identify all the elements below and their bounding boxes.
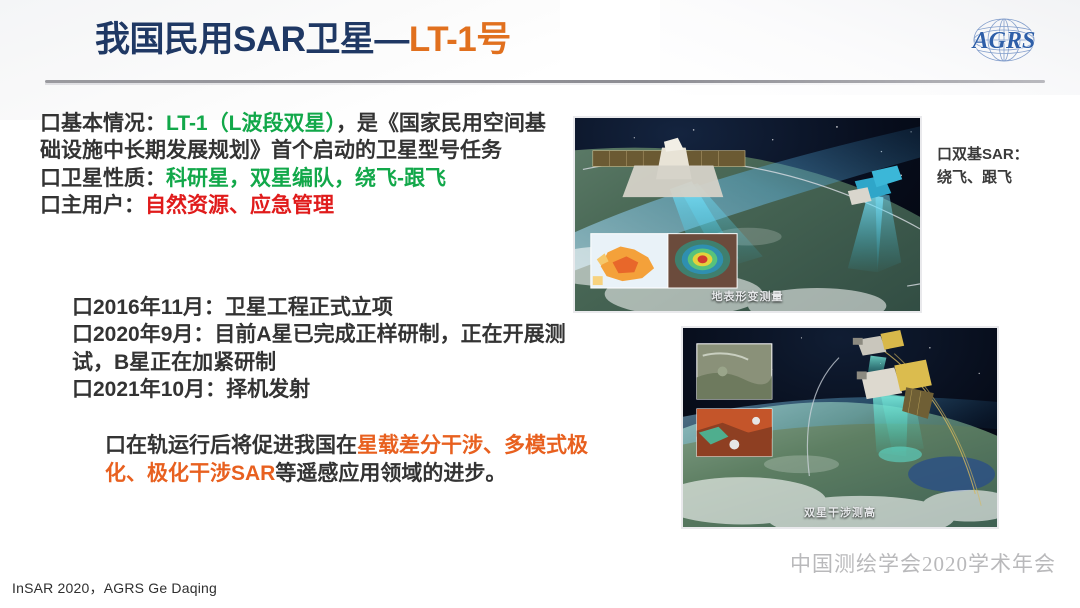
globe-logo-icon: AGRS <box>950 14 1058 66</box>
figure-interferometry: 双星干涉测高 <box>681 326 999 529</box>
bullet-satellite-nature: 口卫星性质：科研星，双星编队，绕飞-跟飞 <box>40 165 550 192</box>
footer-right-text: 中国测绘学会2020学术年会 <box>790 548 1056 578</box>
user-highlight: 自然资源、应急管理 <box>145 194 334 217</box>
bullet-marker: 口 <box>72 378 93 401</box>
annotation-bistatic-sar: 口双基SAR： 绕飞、跟飞 <box>937 144 1077 189</box>
page-title: 我国民用SAR卫星—LT-1号 <box>95 20 511 60</box>
text-block-timeline: 口2016年11月：卫星工程正式立项 口2020年9月：目前A星已完成正样研制，… <box>72 294 572 403</box>
title-divider <box>45 80 1045 83</box>
bullet-marker: 口 <box>72 323 93 346</box>
timeline-text: 卫星工程正式立项 <box>225 296 393 319</box>
agrs-logo: AGRS <box>950 14 1058 66</box>
bullet-main-user: 口主用户：自然资源、应急管理 <box>40 192 550 219</box>
annotation-bistatic-line2: 绕飞、跟飞 <box>937 167 1077 190</box>
nature-label: 卫星性质： <box>61 167 166 190</box>
future-tail: 等遥感应用领域的进步。 <box>275 462 506 485</box>
bullet-marker: 口 <box>105 434 126 457</box>
text-block-basic-info: 口基本情况：LT-1（L波段双星），是《国家民用空间基础设施中长期发展规划》首个… <box>40 110 550 219</box>
user-label: 主用户： <box>61 194 145 217</box>
text-block-future-outlook: 口在轨运行后将促进我国在星载差分干涉、多模式极化、极化干涉SAR等遥感应用领域的… <box>105 432 610 487</box>
basic-info-label: 基本情况： <box>61 112 166 135</box>
basic-info-highlight: LT-1（L波段双星） <box>166 112 336 135</box>
figure-interferometry-artwork <box>683 328 997 528</box>
bullet-basic-info: 口基本情况：LT-1（L波段双星），是《国家民用空间基础设施中长期发展规划》首个… <box>40 110 550 165</box>
timeline-text: 择机发射 <box>226 378 310 401</box>
figure-deformation: 地表形变测量 <box>573 116 922 313</box>
nature-highlight: 科研星，双星编队，绕飞-跟飞 <box>166 167 446 190</box>
timeline-item: 口2016年11月：卫星工程正式立项 <box>72 294 572 321</box>
figure-deformation-caption: 地表形变测量 <box>575 288 920 304</box>
timeline-date: 2016年11月： <box>93 296 225 319</box>
figure-deformation-artwork <box>575 118 920 313</box>
timeline-date: 2021年10月： <box>93 378 226 401</box>
timeline-item: 口2020年9月：目前A星已完成正样研制，正在开展测试，B星正在加紧研制 <box>72 321 572 376</box>
timeline-date: 2020年9月： <box>93 323 214 346</box>
page-title-main: 我国民用SAR卫星— <box>95 20 409 59</box>
timeline-item: 口2021年10月：择机发射 <box>72 376 572 403</box>
bullet-marker: 口 <box>40 194 61 217</box>
annotation-bistatic-line1: 口双基SAR： <box>937 144 1077 167</box>
figure-interferometry-caption: 双星干涉测高 <box>683 504 997 520</box>
agrs-logo-text: AGRS <box>971 28 1036 54</box>
footer-left-text: InSAR 2020，AGRS Ge Daqing <box>12 578 217 598</box>
bullet-marker: 口 <box>72 296 93 319</box>
future-lead: 在轨运行后将促进我国在 <box>126 434 357 457</box>
page-title-accent: LT-1号 <box>409 20 511 59</box>
bullet-marker: 口 <box>40 167 61 190</box>
bullet-marker: 口 <box>40 112 61 135</box>
